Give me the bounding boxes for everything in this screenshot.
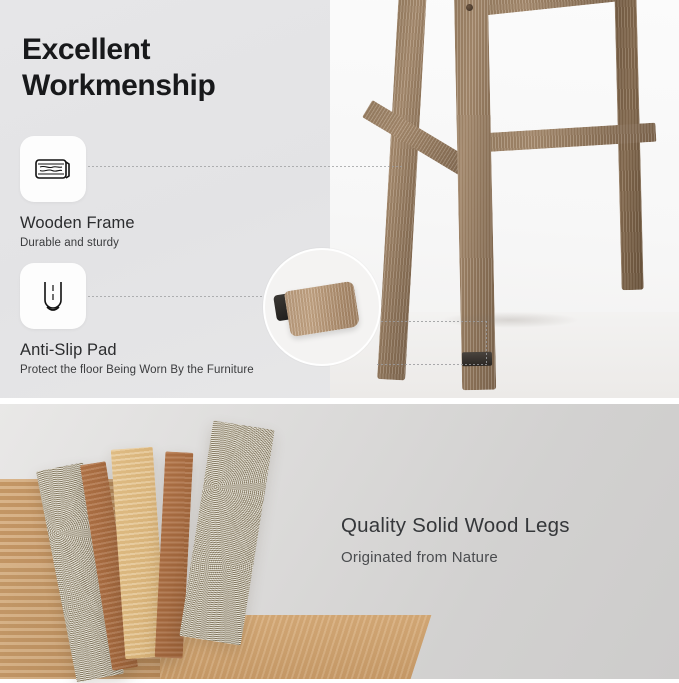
feature-subtitle: Durable and sturdy [20,237,320,249]
dotted-rect-top [377,321,487,322]
rear-leg [614,0,643,290]
feature-subtitle: Protect the floor Being Worn By the Furn… [20,364,320,376]
feature-title: Wooden Frame [20,214,320,233]
bottom-title: Quality Solid Wood Legs [341,514,570,538]
dotted-rect-bottom [377,364,487,365]
furniture-leg-pad-icon [20,263,86,329]
top-panel: Excellent Workmenship [0,0,679,398]
wood-plank-icon [20,136,86,202]
bottom-subtitle: Originated from Nature [341,549,498,566]
feature-title: Anti-Slip Pad [20,341,320,360]
callout-dotted-rectangle [377,321,487,365]
feature-wooden-frame: Wooden Frame Durable and sturdy [20,136,320,249]
dotted-rect-right [486,321,487,365]
page-title: Excellent Workmenship [22,32,342,104]
feature-anti-slip-pad: Anti-Slip Pad Protect the floor Being Wo… [20,263,320,376]
seat-rail [479,0,630,16]
screw-icon [466,4,473,11]
product-infographic: Excellent Workmenship [0,0,679,679]
